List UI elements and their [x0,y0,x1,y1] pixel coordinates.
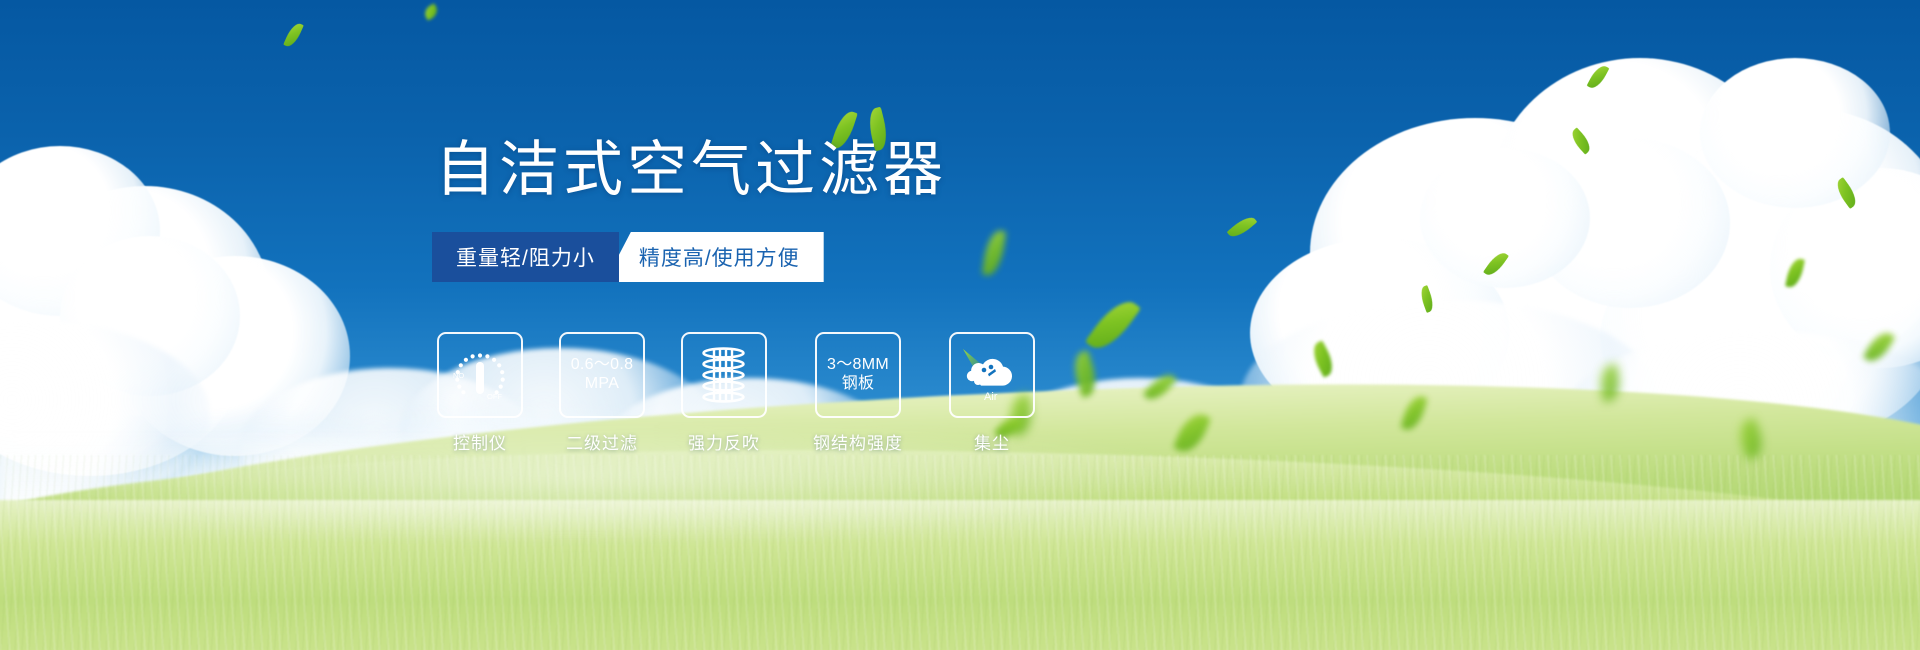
air-label: Air [984,391,998,403]
control-gauge-icon: NO OFF [449,344,511,406]
feature-icon-row: NO OFF 控制仪 0.6～0.8 MPA 二级过滤 [437,332,1035,454]
feature-label: 强力反吹 [688,429,760,454]
feature-label: 二级过滤 [566,429,638,454]
steel-value-line1: 3～8MM [827,356,889,375]
feature-item-blowback: 强力反吹 [681,332,767,454]
feature-icon-box: Air [949,332,1035,418]
banner-title: 自洁式空气过滤器 [435,140,947,200]
feature-icon-box [681,332,767,418]
pressure-value-line2: MPA [585,375,619,394]
feature-icon-box: 3～8MM 钢板 [815,332,901,418]
feature-item-dust: Air 集尘 [949,332,1035,454]
banner-tag-secondary: 精度高/使用方便 [605,232,824,282]
svg-text:NO: NO [453,371,464,380]
svg-text:OFF: OFF [487,392,502,401]
filter-cartridge-icon [697,344,751,406]
feature-item-control: NO OFF 控制仪 [437,332,523,454]
feature-label: 控制仪 [453,429,507,454]
feature-item-steel: 3～8MM 钢板 钢结构强度 [803,332,913,454]
product-hero-banner: 自洁式空气过滤器 重量轻/阻力小 精度高/使用方便 [0,0,1920,650]
steel-value-line2: 钢板 [842,375,875,394]
feature-icon-box: 0.6～0.8 MPA [559,332,645,418]
feature-label: 钢结构强度 [813,429,903,454]
air-cloud-icon: Air [959,346,1025,404]
banner-tag-primary: 重量轻/阻力小 [432,232,619,282]
feature-icon-box: NO OFF [437,332,523,418]
feature-label: 集尘 [974,429,1010,454]
feature-item-pressure: 0.6～0.8 MPA 二级过滤 [559,332,645,454]
banner-content: 自洁式空气过滤器 重量轻/阻力小 精度高/使用方便 [0,0,1920,650]
pressure-value-line1: 0.6～0.8 [571,356,634,375]
banner-tag-group: 重量轻/阻力小 精度高/使用方便 [432,232,824,282]
